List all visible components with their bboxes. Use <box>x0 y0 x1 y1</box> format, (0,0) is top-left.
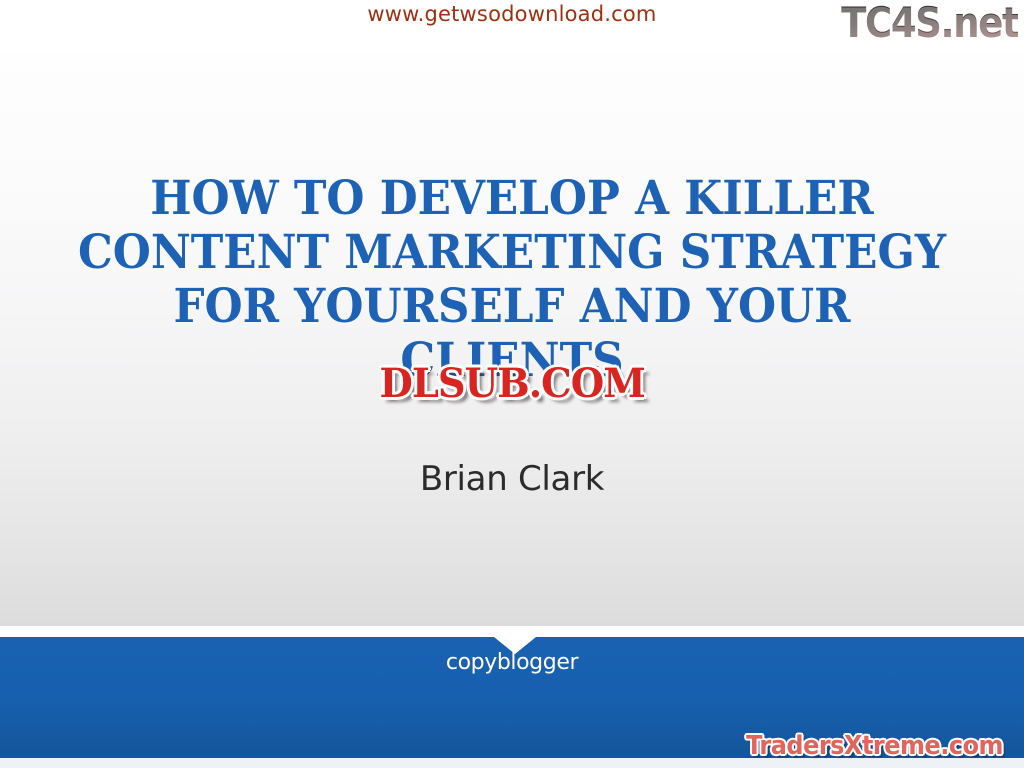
slide-author-name: Brian Clark <box>0 459 1024 499</box>
copyblogger-brand-label: copyblogger <box>0 650 1024 675</box>
bottom-edge-strip <box>0 758 1024 768</box>
footer-separator <box>0 626 1024 637</box>
slide-title-block: HOW TO DEVELOP A KILLER CONTENT MARKETIN… <box>0 172 1024 388</box>
tc4s-logo-watermark: TC4S.net <box>841 0 1018 47</box>
page-title: HOW TO DEVELOP A KILLER CONTENT MARKETIN… <box>36 172 988 388</box>
slide-screenshot: www.getwsodownload.com TC4S.net HOW TO D… <box>0 0 1024 768</box>
slide-background: HOW TO DEVELOP A KILLER CONTENT MARKETIN… <box>0 40 1024 626</box>
